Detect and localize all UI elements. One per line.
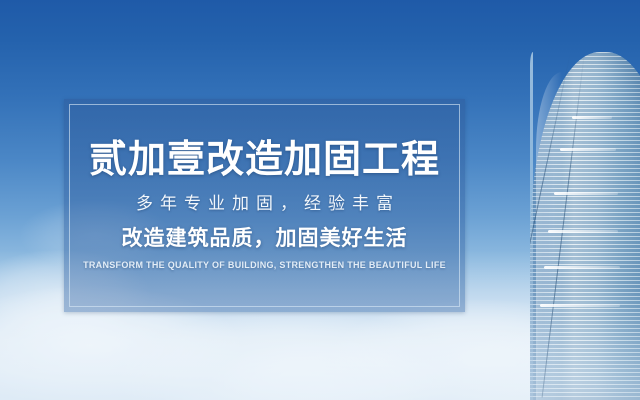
tower-highlight [560,148,616,151]
tower-base-haze [530,290,640,400]
skyscraper-image [530,52,640,400]
slogan-text: 改造建筑品质，加固美好生活 [122,228,408,249]
tower-highlight [544,266,620,269]
hero-banner: 贰加壹改造加固工程 多年专业加固，经验丰富 改造建筑品质，加固美好生活 TRAN… [0,0,640,400]
tower-highlight [548,230,618,233]
panel-content: 贰加壹改造加固工程 多年专业加固，经验丰富 改造建筑品质，加固美好生活 TRAN… [64,99,465,312]
tower-highlight [572,116,612,119]
tower-highlight [554,192,618,195]
text-overlay-panel: 贰加壹改造加固工程 多年专业加固，经验丰富 改造建筑品质，加固美好生活 TRAN… [64,99,465,312]
page-title: 贰加壹改造加固工程 [89,141,440,179]
english-caption: TRANSFORM THE QUALITY OF BUILDING, STREN… [83,261,446,270]
tagline-text: 多年专业加固，经验丰富 [129,195,400,212]
